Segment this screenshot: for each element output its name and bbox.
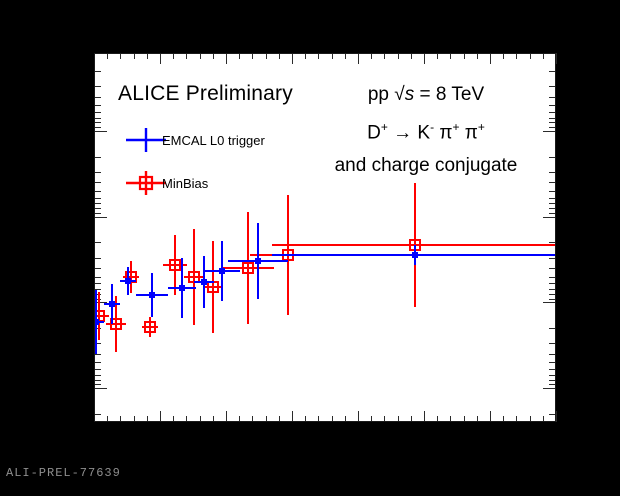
sqrt-icon: √ [394,84,404,105]
annotation-energy-value: = 8 TeV [414,84,484,105]
legend-label-emcal: EMCAL L0 trigger [162,133,265,148]
data-point-marker [179,285,185,291]
data-point-marker [219,268,225,274]
annotation-collision-energy: pp √s = 8 TeV [300,78,552,111]
data-point-marker [125,278,131,284]
decay-pi2: π [459,122,477,143]
annotation-pp: pp [368,84,394,105]
annotation-charge-conjugate: and charge conjugate [300,149,552,182]
data-point-marker [94,319,99,325]
decay-pi2-charge: + [478,120,485,134]
data-point-marker [201,279,207,285]
decay-d: D [367,122,381,143]
annotation-decay-channel: D+ → K- π+ π+ [300,111,552,149]
decay-pi1: π [434,122,452,143]
annotation-s-symbol: s [405,84,415,105]
annotation-block: pp √s = 8 TeV D+ → K- π+ π+ and charge c… [300,78,552,182]
figure-canvas: ALICE Preliminary EMCAL L0 trigger MinBi… [0,0,620,496]
data-point-marker [149,292,155,298]
data-point-marker [412,252,418,258]
legend-label-minbias: MinBias [162,176,208,191]
approval-watermark: ALI-PREL-77639 [6,466,121,480]
page-title: ALICE Preliminary [118,82,293,106]
decay-arrow-k: → K [388,122,430,143]
data-point-marker [255,258,261,264]
x-major-tick [556,53,557,64]
data-point-marker [109,301,115,307]
decay-d-charge: + [381,120,388,134]
x-major-tick [556,411,557,422]
